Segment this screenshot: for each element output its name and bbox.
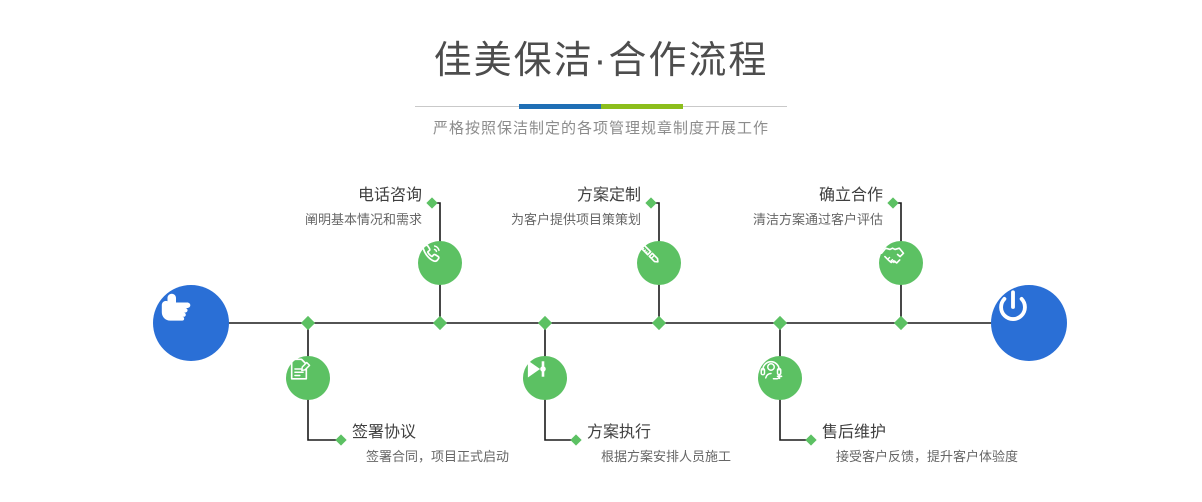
process-flow-diagram: 电话咨询 阐明基本情况和需求 方案定制 为客户提供项目策策划 确立合作 清洁方案… <box>0 0 1202 502</box>
step-label-5: 确立合作 清洁方案通过客户评估 <box>643 188 883 226</box>
label-diamonds <box>335 197 898 445</box>
flow-end-endcap[interactable] <box>991 285 1067 361</box>
timeline-diamond <box>894 316 908 330</box>
step-node-2[interactable] <box>286 356 330 400</box>
document-edit-icon <box>286 356 312 382</box>
step-desc: 接受客户反馈，提升客户体验度 <box>836 450 1102 463</box>
phone-call-icon <box>418 241 444 267</box>
step-title: 方案定制 <box>577 187 641 204</box>
pencil-ruler-icon <box>637 241 663 267</box>
step-desc: 根据方案安排人员施工 <box>601 450 847 463</box>
step-node-6[interactable] <box>758 356 802 400</box>
step-node-3[interactable] <box>637 241 681 285</box>
step-title: 确立合作 <box>819 187 883 204</box>
flow-start-endcap[interactable] <box>153 285 229 361</box>
step-title: 售后维护 <box>822 424 886 441</box>
timeline-diamond <box>652 316 666 330</box>
timeline-diamond <box>301 316 315 330</box>
pointing-hand-icon <box>153 285 197 329</box>
timeline-diamond <box>538 316 552 330</box>
step-title: 签署协议 <box>352 424 416 441</box>
step-label-4: 方案执行 根据方案安排人员施工 <box>587 425 847 463</box>
handshake-icon <box>879 241 906 268</box>
step-node-1[interactable] <box>418 241 462 285</box>
step-node-5[interactable] <box>879 241 923 285</box>
step-desc: 签署合同，项目正式启动 <box>366 450 612 463</box>
timeline-diamond <box>773 316 787 330</box>
step-node-4[interactable] <box>523 356 567 400</box>
step-desc: 为客户提供项目策策划 <box>401 213 641 226</box>
label-diamond <box>887 197 898 208</box>
timeline-diamond <box>433 316 447 330</box>
play-execute-icon <box>523 356 549 382</box>
step-title: 方案执行 <box>587 424 651 441</box>
step-desc: 清洁方案通过客户评估 <box>643 213 883 226</box>
step-desc: 阐明基本情况和需求 <box>182 213 422 226</box>
power-icon <box>991 285 1035 329</box>
step-label-1: 电话咨询 阐明基本情况和需求 <box>182 188 422 226</box>
headset-support-icon <box>758 356 784 382</box>
step-label-2: 签署协议 签署合同，项目正式启动 <box>352 425 612 463</box>
page-root: 佳美保洁·合作流程 严格按照保洁制定的各项管理规章制度开展工作 <box>0 0 1202 502</box>
step-label-6: 售后维护 接受客户反馈，提升客户体验度 <box>822 425 1102 463</box>
step-label-3: 方案定制 为客户提供项目策策划 <box>401 188 641 226</box>
label-diamond <box>335 434 346 445</box>
